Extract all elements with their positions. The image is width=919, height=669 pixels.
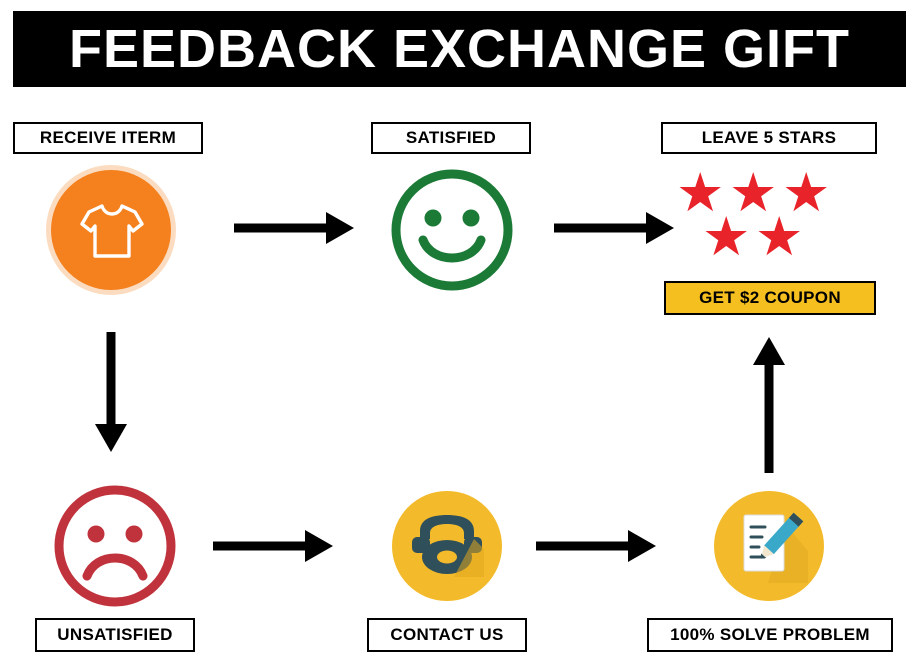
- label-get-coupon: GET $2 COUPON: [664, 281, 876, 315]
- label-solve-problem: 100% SOLVE PROBLEM: [647, 618, 893, 652]
- label-receive-item: RECEIVE ITERM: [13, 122, 203, 154]
- telephone-icon: [410, 513, 484, 577]
- happy-face-icon: [390, 168, 514, 292]
- label-contact-us: CONTACT US: [367, 618, 527, 652]
- page-title: FEEDBACK EXCHANGE GIFT: [69, 22, 850, 76]
- solve-problem-node: [714, 491, 824, 601]
- arrow-receive-to-unsatisfied: [88, 330, 134, 452]
- sad-face-icon: [53, 484, 177, 608]
- label-leave-5-stars: LEAVE 5 STARS: [661, 122, 877, 154]
- tshirt-icon: [79, 202, 145, 260]
- arrow-receive-to-satisfied: [232, 206, 354, 250]
- arrow-satisfied-to-stars: [552, 206, 674, 250]
- contact-us-node: [392, 491, 502, 601]
- star-5: ★: [755, 210, 803, 264]
- label-unsatisfied: UNSATISFIED: [35, 618, 195, 652]
- document-pencil-icon: [734, 509, 808, 583]
- receive-item-node: [51, 170, 171, 290]
- arrow-solve-to-coupon: [746, 335, 792, 475]
- arrow-unsatisfied-to-contact: [211, 524, 333, 568]
- flowchart-canvas: FEEDBACK EXCHANGE GIFT RECEIVE ITERM SAT…: [0, 0, 919, 669]
- star-4: ★: [702, 210, 750, 264]
- arrow-contact-to-solve: [534, 524, 656, 568]
- five-stars-icon: ★ ★ ★ ★ ★: [676, 166, 862, 266]
- label-satisfied: SATISFIED: [371, 122, 531, 154]
- page-title-bar: FEEDBACK EXCHANGE GIFT: [13, 11, 906, 87]
